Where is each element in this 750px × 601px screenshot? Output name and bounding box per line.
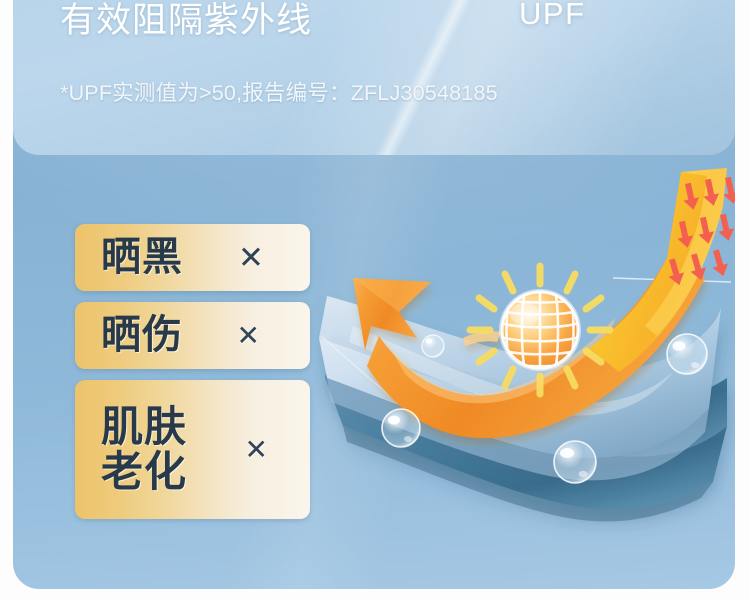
claim-label: 肌肤 老化 [101, 405, 187, 493]
header-panel: 有效阻隔紫外线 UPF *UPF实测值为>50,报告编号：ZFLJ3054818… [13, 0, 735, 155]
claim-label-line-2: 老化 [101, 450, 187, 494]
uv-arrow [708, 248, 731, 278]
upf-badge: UPF [519, 0, 586, 32]
bubble [382, 409, 420, 447]
bubble [667, 334, 707, 374]
claim-label-line-1: 肌肤 [101, 405, 187, 449]
promo-banner-page: 有效阻隔紫外线 UPF *UPF实测值为>50,报告编号：ZFLJ3054818… [0, 0, 750, 601]
page-title: 有效阻隔紫外线 [60, 0, 312, 43]
upf-test-note: *UPF实测值为>50,报告编号：ZFLJ30548185 [60, 76, 498, 107]
claim-label: 晒黑 [101, 236, 183, 278]
claim-box-skin-aging: 肌肤 老化 ✕ [75, 380, 310, 519]
claim-cross-icon: ✕ [245, 433, 268, 466]
claim-label: 晒伤 [101, 314, 183, 356]
bubble [554, 441, 596, 483]
claim-cross-icon: ✕ [238, 240, 264, 276]
uv-blocking-fabric-illustration [313, 150, 735, 560]
claim-box-tanning: 晒黑 ✕ [75, 224, 310, 291]
bubble-small [422, 335, 444, 357]
claim-cross-icon: ✕ [237, 319, 260, 352]
promo-card: 有效阻隔紫外线 UPF *UPF实测值为>50,报告编号：ZFLJ3054818… [13, 0, 735, 589]
claim-box-sunburn: 晒伤 ✕ [75, 302, 310, 369]
